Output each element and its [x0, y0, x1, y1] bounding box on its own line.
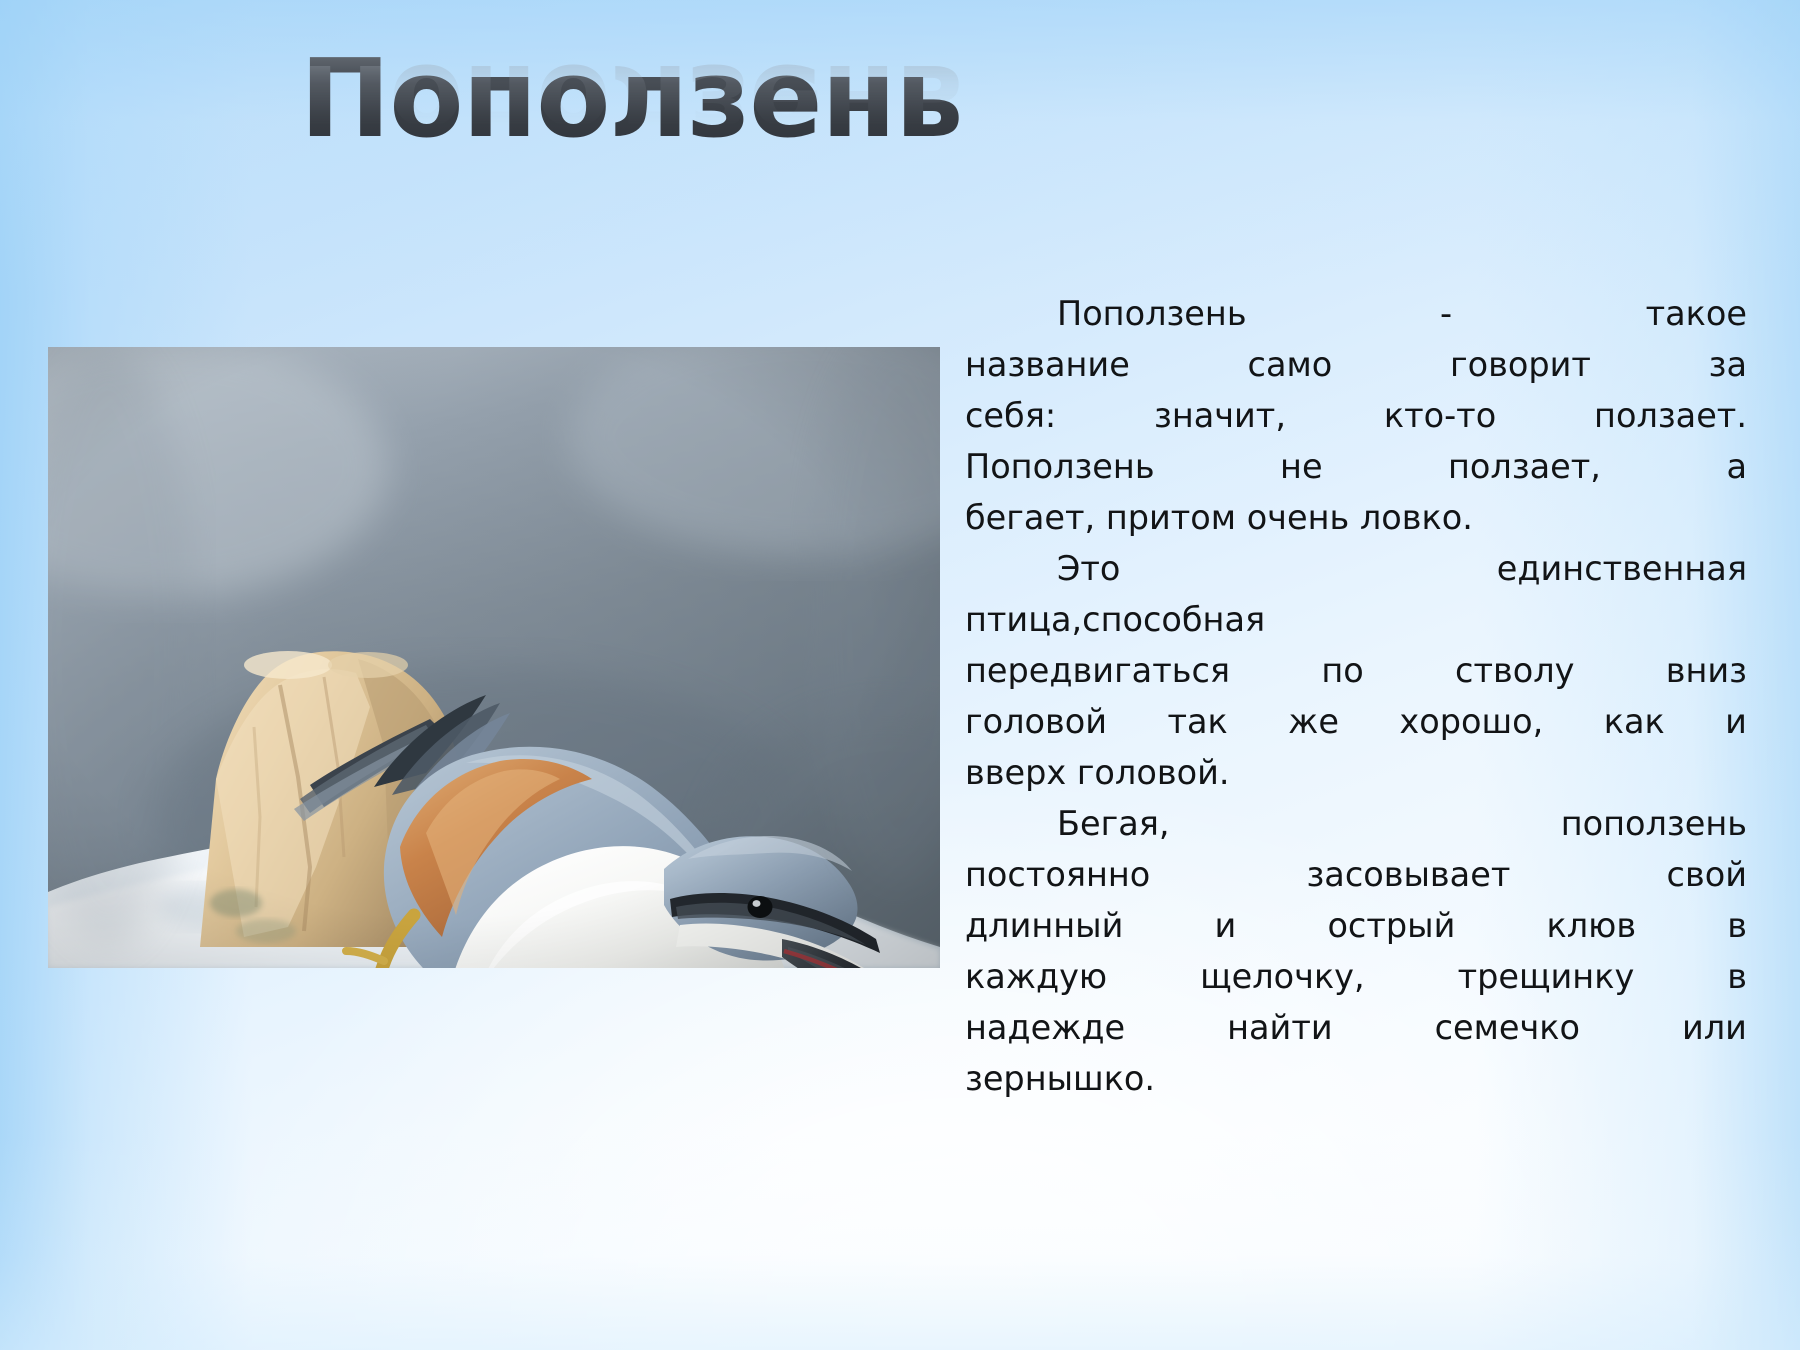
body-word: не [1280, 441, 1323, 492]
body-word: найти [1227, 1002, 1333, 1053]
body-word: Поползень [1057, 288, 1247, 339]
body-line: себя:значит,кто-тоползает. [965, 390, 1747, 441]
body-paragraph-3: Бегая,поползень постояннозасовываетсвой … [965, 798, 1747, 1104]
body-word: Это [1057, 543, 1120, 594]
body-word: же [1288, 696, 1339, 747]
body-word: постоянно [965, 849, 1150, 900]
body-word: как [1604, 696, 1665, 747]
body-word: само [1248, 339, 1333, 390]
slide-title-reflection: Поползень [300, 46, 1500, 158]
body-word: себя: [965, 390, 1056, 441]
body-line: постояннозасовываетсвой [965, 849, 1747, 900]
body-line: названиесамоговоритза [965, 339, 1747, 390]
body-word: по [1321, 645, 1363, 696]
body-line: Поползеньнеползает,а [965, 441, 1747, 492]
bird-photo-illustration [48, 347, 940, 968]
body-word: за [1709, 339, 1747, 390]
body-word: единственная [1497, 543, 1747, 594]
body-line: вверх головой. [965, 747, 1747, 798]
body-word: или [1682, 1002, 1747, 1053]
body-word: острый [1327, 900, 1455, 951]
body-word: стволу [1455, 645, 1574, 696]
body-word: трещинку [1458, 951, 1635, 1002]
body-word: семечко [1435, 1002, 1580, 1053]
body-word: поползень [1561, 798, 1747, 849]
body-word: свой [1667, 849, 1747, 900]
body-line: Поползень-такое [965, 288, 1747, 339]
body-word: засовывает [1306, 849, 1510, 900]
bird-photo [48, 347, 940, 968]
body-line: длинныйиострыйклювв [965, 900, 1747, 951]
body-word: передвигаться [965, 645, 1230, 696]
slide-title-block: Поползень Поползень [300, 44, 1500, 274]
body-word: щелочку, [1200, 951, 1365, 1002]
body-word: ползает, [1448, 441, 1601, 492]
body-line: бегает, притом очень ловко. [965, 492, 1747, 543]
body-word: значит, [1154, 390, 1286, 441]
body-word: говорит [1450, 339, 1591, 390]
body-line: каждующелочку,трещинкув [965, 951, 1747, 1002]
body-line: надежденайтисемечкоили [965, 1002, 1747, 1053]
body-word: и [1215, 900, 1237, 951]
body-word: хорошо, [1399, 696, 1543, 747]
body-paragraph-2: Этоединственная птица,способная передвиг… [965, 543, 1747, 798]
body-word: название [965, 339, 1130, 390]
body-word: в [1727, 951, 1747, 1002]
body-word: - [1440, 288, 1452, 339]
body-line: головойтакжехорошо,каки [965, 696, 1747, 747]
body-line: Этоединственная [965, 543, 1747, 594]
body-paragraph-1: Поползень-такое названиесамоговоритза се… [965, 288, 1747, 543]
body-word: головой [965, 696, 1107, 747]
body-word: каждую [965, 951, 1107, 1002]
body-word: а [1726, 441, 1747, 492]
slide-body-text: Поползень-такое названиесамоговоритза се… [965, 288, 1747, 1104]
body-line: передвигатьсяпостволувниз [965, 645, 1747, 696]
body-word: надежде [965, 1002, 1125, 1053]
body-word: Поползень [965, 441, 1155, 492]
body-line: Бегая,поползень [965, 798, 1747, 849]
body-line: птица,способная [965, 594, 1747, 645]
body-word: ползает. [1594, 390, 1747, 441]
body-word: Бегая, [1057, 798, 1170, 849]
body-line: зернышко. [965, 1053, 1747, 1104]
body-word: кто-то [1384, 390, 1496, 441]
body-word: длинный [965, 900, 1123, 951]
body-word: такое [1646, 288, 1747, 339]
body-word: и [1725, 696, 1747, 747]
presentation-slide: Поползень Поползень [0, 0, 1800, 1350]
body-word: так [1167, 696, 1227, 747]
body-word: вниз [1666, 645, 1747, 696]
body-word: в [1727, 900, 1747, 951]
body-word: клюв [1547, 900, 1637, 951]
